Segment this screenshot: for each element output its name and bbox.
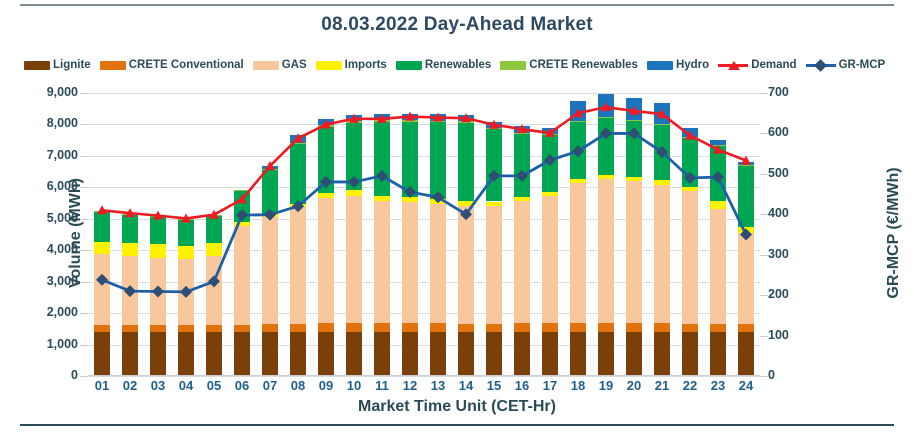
legend-item-label: GAS — [282, 59, 307, 71]
x-axis-tick-label: 24 — [726, 378, 766, 393]
y-axis-right-tickmark — [760, 295, 768, 296]
legend-mcp-marker-icon — [806, 60, 836, 71]
y-axis-left-title: Volume (MWh) — [67, 178, 85, 288]
chart-legend: LigniteCRETE ConventionalGASImportsRenew… — [24, 56, 890, 74]
marker-gr-mcp — [740, 229, 752, 241]
y-axis-right-tickmark — [760, 214, 768, 215]
legend-item-label: Imports — [345, 59, 387, 71]
y-axis-left-tickmark — [80, 313, 88, 314]
y-axis-left-tick: 6,000 — [0, 179, 78, 193]
y-axis-left-tickmark — [80, 376, 88, 377]
legend-item-demand[interactable]: Demand — [718, 59, 796, 71]
legend-item-gr-mcp[interactable]: GR-MCP — [806, 59, 886, 71]
marker-gr-mcp — [236, 209, 248, 221]
legend-swatch-icon — [316, 61, 342, 70]
y-axis-right-tick: 100 — [768, 328, 828, 342]
y-axis-left-tickmark — [80, 124, 88, 125]
y-axis-right-tickmark — [760, 133, 768, 134]
y-axis-right-tick: 700 — [768, 85, 828, 99]
marker-gr-mcp — [124, 285, 136, 297]
legend-swatch-icon — [500, 61, 526, 70]
y-axis-left-tickmark — [80, 250, 88, 251]
marker-gr-mcp — [208, 275, 220, 287]
chart-plot-area: Volume (MWh) GR-MCP (€/MWh) 01,0002,0003… — [88, 93, 760, 376]
legend-swatch-icon — [647, 61, 673, 70]
legend-item-label: CRETE Renewables — [529, 59, 638, 71]
marker-gr-mcp — [264, 209, 276, 221]
marker-gr-mcp — [152, 286, 164, 298]
y-axis-right-tickmark — [760, 376, 768, 377]
y-axis-right-tick: 200 — [768, 287, 828, 301]
marker-gr-mcp — [432, 191, 444, 203]
y-axis-right-tick: 600 — [768, 125, 828, 139]
legend-item-label: Hydro — [676, 59, 709, 71]
y-axis-left-tick: 2,000 — [0, 305, 78, 319]
marker-gr-mcp — [348, 176, 360, 188]
legend-demand-marker-icon — [718, 60, 748, 71]
y-axis-left-tickmark — [80, 219, 88, 220]
legend-item-label: Renewables — [425, 59, 491, 71]
legend-swatch-icon — [24, 61, 50, 70]
y-axis-left-tick: 1,000 — [0, 337, 78, 351]
line-demand — [102, 107, 746, 218]
legend-swatch-icon — [100, 61, 126, 70]
marker-gr-mcp — [180, 286, 192, 298]
y-axis-left-tick: 0 — [0, 368, 78, 382]
y-axis-left-tickmark — [80, 93, 88, 94]
top-divider — [20, 4, 894, 6]
legend-item-label: CRETE Conventional — [129, 59, 244, 71]
y-axis-right-tick: 0 — [768, 368, 828, 382]
legend-item-label: Lignite — [53, 59, 91, 71]
marker-gr-mcp — [712, 171, 724, 183]
y-axis-left-tick: 8,000 — [0, 116, 78, 130]
y-axis-left-tickmark — [80, 345, 88, 346]
marker-gr-mcp — [544, 154, 556, 166]
legend-item-crete-renewables[interactable]: CRETE Renewables — [500, 59, 638, 71]
y-axis-right-tickmark — [760, 255, 768, 256]
x-axis-line — [88, 375, 760, 377]
y-axis-left-tick: 3,000 — [0, 274, 78, 288]
bottom-divider — [20, 424, 894, 426]
legend-item-crete-conventional[interactable]: CRETE Conventional — [100, 59, 244, 71]
gridline — [88, 376, 760, 377]
y-axis-right-tickmark — [760, 336, 768, 337]
marker-gr-mcp — [516, 170, 528, 182]
y-axis-right-tick: 300 — [768, 247, 828, 261]
y-axis-left-tick: 4,000 — [0, 242, 78, 256]
legend-item-lignite[interactable]: Lignite — [24, 59, 91, 71]
y-axis-right-tick: 400 — [768, 206, 828, 220]
legend-swatch-icon — [396, 61, 422, 70]
x-axis-title: Market Time Unit (CET-Hr) — [0, 398, 914, 416]
y-axis-left-tickmark — [80, 282, 88, 283]
y-axis-left-tick: 5,000 — [0, 211, 78, 225]
chart-title: 08.03.2022 Day-Ahead Market — [0, 14, 914, 36]
y-axis-left-tick: 7,000 — [0, 148, 78, 162]
legend-swatch-icon — [253, 61, 279, 70]
line-overlay — [88, 93, 760, 376]
y-axis-right-tick: 500 — [768, 166, 828, 180]
y-axis-left-tick: 9,000 — [0, 85, 78, 99]
legend-item-hydro[interactable]: Hydro — [647, 59, 709, 71]
y-axis-right-tickmark — [760, 174, 768, 175]
marker-gr-mcp — [376, 170, 388, 182]
legend-item-gas[interactable]: GAS — [253, 59, 307, 71]
line-gr-mcp — [102, 133, 746, 291]
y-axis-left-tickmark — [80, 187, 88, 188]
marker-gr-mcp — [404, 186, 416, 198]
marker-gr-mcp — [96, 274, 108, 286]
legend-item-imports[interactable]: Imports — [316, 59, 387, 71]
legend-item-label: GR-MCP — [839, 59, 886, 71]
legend-item-label: Demand — [751, 59, 796, 71]
y-axis-right-title: GR-MCP (€/MWh) — [885, 167, 903, 298]
y-axis-right-tickmark — [760, 93, 768, 94]
legend-item-renewables[interactable]: Renewables — [396, 59, 491, 71]
y-axis-left-tickmark — [80, 156, 88, 157]
